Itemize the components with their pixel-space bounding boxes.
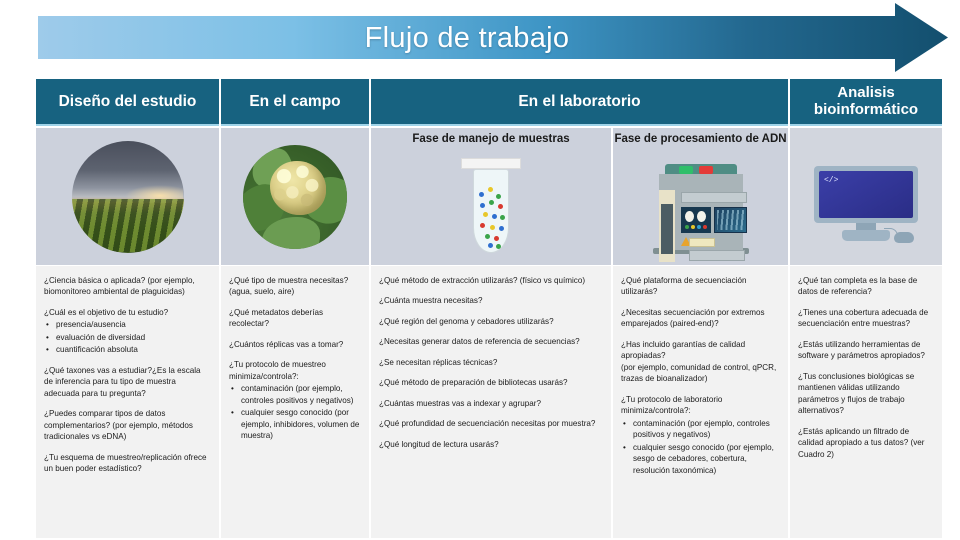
question-text: ¿Tienes una cobertura adecuada de secuen… — [798, 307, 934, 330]
tube-body-icon — [473, 169, 509, 253]
stage-illustration-row: Fase de manejo de muestras — [36, 128, 942, 265]
subheader-fase-de-manejo-de-muestras: Fase de manejo de muestras — [371, 133, 611, 145]
question-text: ¿Qué plataforma de secuenciación utiliza… — [621, 275, 780, 298]
question-text: ¿Qué tan completa es la base de datos de… — [798, 275, 934, 298]
question-block: ¿Necesitas secuenciación por extremos em… — [621, 307, 780, 330]
question-text: ¿Necesitas generar datos de referencia d… — [379, 336, 603, 347]
cauliflower-plant-photo — [243, 145, 347, 249]
question-text: ¿Qué región del genoma y cebadores utili… — [379, 316, 603, 327]
question-text: ¿Tu esquema de muestreo/replicación ofre… — [44, 452, 211, 475]
test-tube-sample-illustration — [458, 158, 524, 258]
question-text: ¿Has incluido garantías de calidad aprop… — [621, 339, 780, 362]
question-block: ¿Cuántos réplicas vas a tomar? — [229, 339, 361, 350]
question-text: ¿Qué longitud de lectura usarás? — [379, 439, 603, 450]
illustration-cell-dna-processing: Fase de procesamiento de ADN — [613, 128, 788, 265]
question-block: ¿Puedes comparar tipos de datos compleme… — [44, 408, 211, 442]
question-block: ¿Cuántas muestras vas a indexar y agrupa… — [379, 398, 603, 409]
stage-header-en-el-campo[interactable]: En el campo — [221, 79, 369, 126]
subheader-fase-de-procesamiento-de-adn: Fase de procesamiento de ADN — [613, 133, 788, 145]
bullet-item: contaminación (por ejemplo, controles po… — [229, 383, 361, 406]
illustration-cell-study-design — [36, 128, 219, 265]
code-glyph-icon: </> — [824, 176, 838, 185]
question-block: ¿Se necesitan réplicas técnicas? — [379, 357, 603, 368]
machine-green-led-icon — [679, 166, 693, 174]
question-bullet-list: presencia/ausenciaevaluación de diversid… — [44, 319, 211, 355]
question-block: ¿Qué método de extracción utilizarás? (f… — [379, 275, 603, 286]
question-text: ¿Puedes comparar tipos de datos compleme… — [44, 408, 211, 442]
question-block: ¿Estás utilizando herramientas de softwa… — [798, 339, 934, 362]
question-text: ¿Estás utilizando herramientas de softwa… — [798, 339, 934, 362]
question-text: ¿Qué taxones vas a estudiar?¿Es la escal… — [44, 365, 211, 399]
monitor-stand-icon — [842, 230, 890, 241]
question-text: ¿Qué método de extracción utilizarás? (f… — [379, 275, 603, 286]
question-block: ¿Tienes una cobertura adecuada de secuen… — [798, 307, 934, 330]
machine-control-panel-icon — [681, 207, 711, 233]
question-text-row: ¿Ciencia básica o aplicada? (por ejemplo… — [36, 266, 942, 538]
bullet-item: cualquier sesgo conocido (por ejemplo, i… — [229, 407, 361, 441]
question-text: ¿Tu protocolo de muestreo minimiza/contr… — [229, 359, 361, 382]
question-block: ¿Qué tan completa es la base de datos de… — [798, 275, 934, 298]
question-text: ¿Necesitas secuenciación por extremos em… — [621, 307, 780, 330]
question-text: ¿Tu protocolo de laboratorio minimiza/co… — [621, 394, 780, 417]
question-text: ¿Tus conclusiones biológicas se mantiene… — [798, 371, 934, 417]
question-block: ¿Qué profundidad de secuenciación necesi… — [379, 418, 603, 429]
monitor-screen-icon — [814, 166, 918, 223]
question-block: ¿Qué método de preparación de biblioteca… — [379, 377, 603, 388]
questions-study-design: ¿Ciencia básica o aplicada? (por ejemplo… — [36, 266, 219, 538]
dna-sequencer-machine-illustration — [653, 162, 749, 254]
question-text: ¿Qué metadatos deberías recolectar? — [229, 307, 361, 330]
illustration-cell-sample-handling: Fase de manejo de muestras — [371, 128, 611, 265]
question-text: ¿Cuál es el objetivo de tu estudio? — [44, 307, 211, 318]
questions-field: ¿Qué tipo de muestra necesitas? (agua, s… — [221, 266, 369, 538]
bullet-item: contaminación (por ejemplo, controles po… — [621, 418, 780, 441]
stage-header-en-el-laboratorio[interactable]: En el laboratorio — [371, 79, 788, 126]
bullet-item: presencia/ausencia — [44, 319, 211, 330]
questions-bioinformatics: ¿Qué tan completa es la base de datos de… — [790, 266, 942, 538]
question-block: ¿Qué longitud de lectura usarás? — [379, 439, 603, 450]
bullet-item: evaluación de diversidad — [44, 332, 211, 343]
illustration-cell-field — [221, 128, 369, 265]
stage-header-analisis-bioinformatico[interactable]: Analisis bioinformático — [790, 79, 942, 126]
questions-dna-processing: ¿Qué plataforma de secuenciación utiliza… — [613, 266, 788, 538]
tube-cap-icon — [461, 158, 521, 169]
question-text: ¿Qué tipo de muestra necesitas? (agua, s… — [229, 275, 361, 298]
question-bullet-list: contaminación (por ejemplo, controles po… — [229, 383, 361, 441]
machine-door-icon — [659, 190, 675, 262]
question-block: ¿Qué taxones vas a estudiar?¿Es la escal… — [44, 365, 211, 399]
question-bullet-list: contaminación (por ejemplo, controles po… — [621, 418, 780, 476]
question-text: ¿Se necesitan réplicas técnicas? — [379, 357, 603, 368]
question-block: ¿Cuánta muestra necesitas? — [379, 295, 603, 306]
bullet-item: cuantificación absoluta — [44, 344, 211, 355]
workflow-arrow-banner: Flujo de trabajo — [0, 0, 960, 75]
stage-header-diseno-del-estudio[interactable]: Diseño del estudio — [36, 79, 219, 126]
question-block: ¿Tu esquema de muestreo/replicación ofre… — [44, 452, 211, 475]
question-text: (por ejemplo, comunidad de control, qPCR… — [621, 362, 780, 385]
question-block: ¿Qué región del genoma y cebadores utili… — [379, 316, 603, 327]
mouse-icon — [894, 232, 914, 243]
question-text: ¿Ciencia básica o aplicada? (por ejemplo… — [44, 275, 211, 298]
computer-monitor-illustration: </> — [814, 166, 918, 246]
question-block: ¿Qué plataforma de secuenciación utiliza… — [621, 275, 780, 298]
question-block: ¿Has incluido garantías de calidad aprop… — [621, 339, 780, 385]
question-text: ¿Qué método de preparación de biblioteca… — [379, 377, 603, 388]
machine-red-led-icon — [699, 166, 713, 174]
question-block: ¿Tu protocolo de muestreo minimiza/contr… — [229, 359, 361, 441]
question-block: ¿Qué metadatos deberías recolectar? — [229, 307, 361, 330]
question-block: ¿Cuál es el objetivo de tu estudio?prese… — [44, 307, 211, 356]
question-text: ¿Cuántas muestras vas a indexar y agrupa… — [379, 398, 603, 409]
question-text: ¿Cuánta muestra necesitas? — [379, 295, 603, 306]
field-landscape-photo — [72, 141, 184, 253]
machine-screen-icon — [714, 207, 747, 233]
illustration-cell-bioinformatics: </> — [790, 128, 942, 265]
question-text: ¿Estás aplicando un filtrado de calidad … — [798, 426, 934, 460]
question-text: ¿Qué profundidad de secuenciación necesi… — [379, 418, 603, 429]
question-block: ¿Qué tipo de muestra necesitas? (agua, s… — [229, 275, 361, 298]
stage-header-row: Diseño del estudio En el campo En el lab… — [36, 79, 942, 126]
question-block: ¿Tu protocolo de laboratorio minimiza/co… — [621, 394, 780, 476]
question-block: ¿Necesitas generar datos de referencia d… — [379, 336, 603, 347]
question-text: ¿Cuántos réplicas vas a tomar? — [229, 339, 361, 350]
question-block: ¿Tus conclusiones biológicas se mantiene… — [798, 371, 934, 417]
bullet-item: cualquier sesgo conocido (por ejemplo, s… — [621, 442, 780, 476]
arrow-shape-icon — [0, 0, 960, 75]
questions-sample-handling: ¿Qué método de extracción utilizarás? (f… — [371, 266, 611, 538]
question-block: ¿Ciencia básica o aplicada? (por ejemplo… — [44, 275, 211, 298]
question-block: ¿Estás aplicando un filtrado de calidad … — [798, 426, 934, 460]
